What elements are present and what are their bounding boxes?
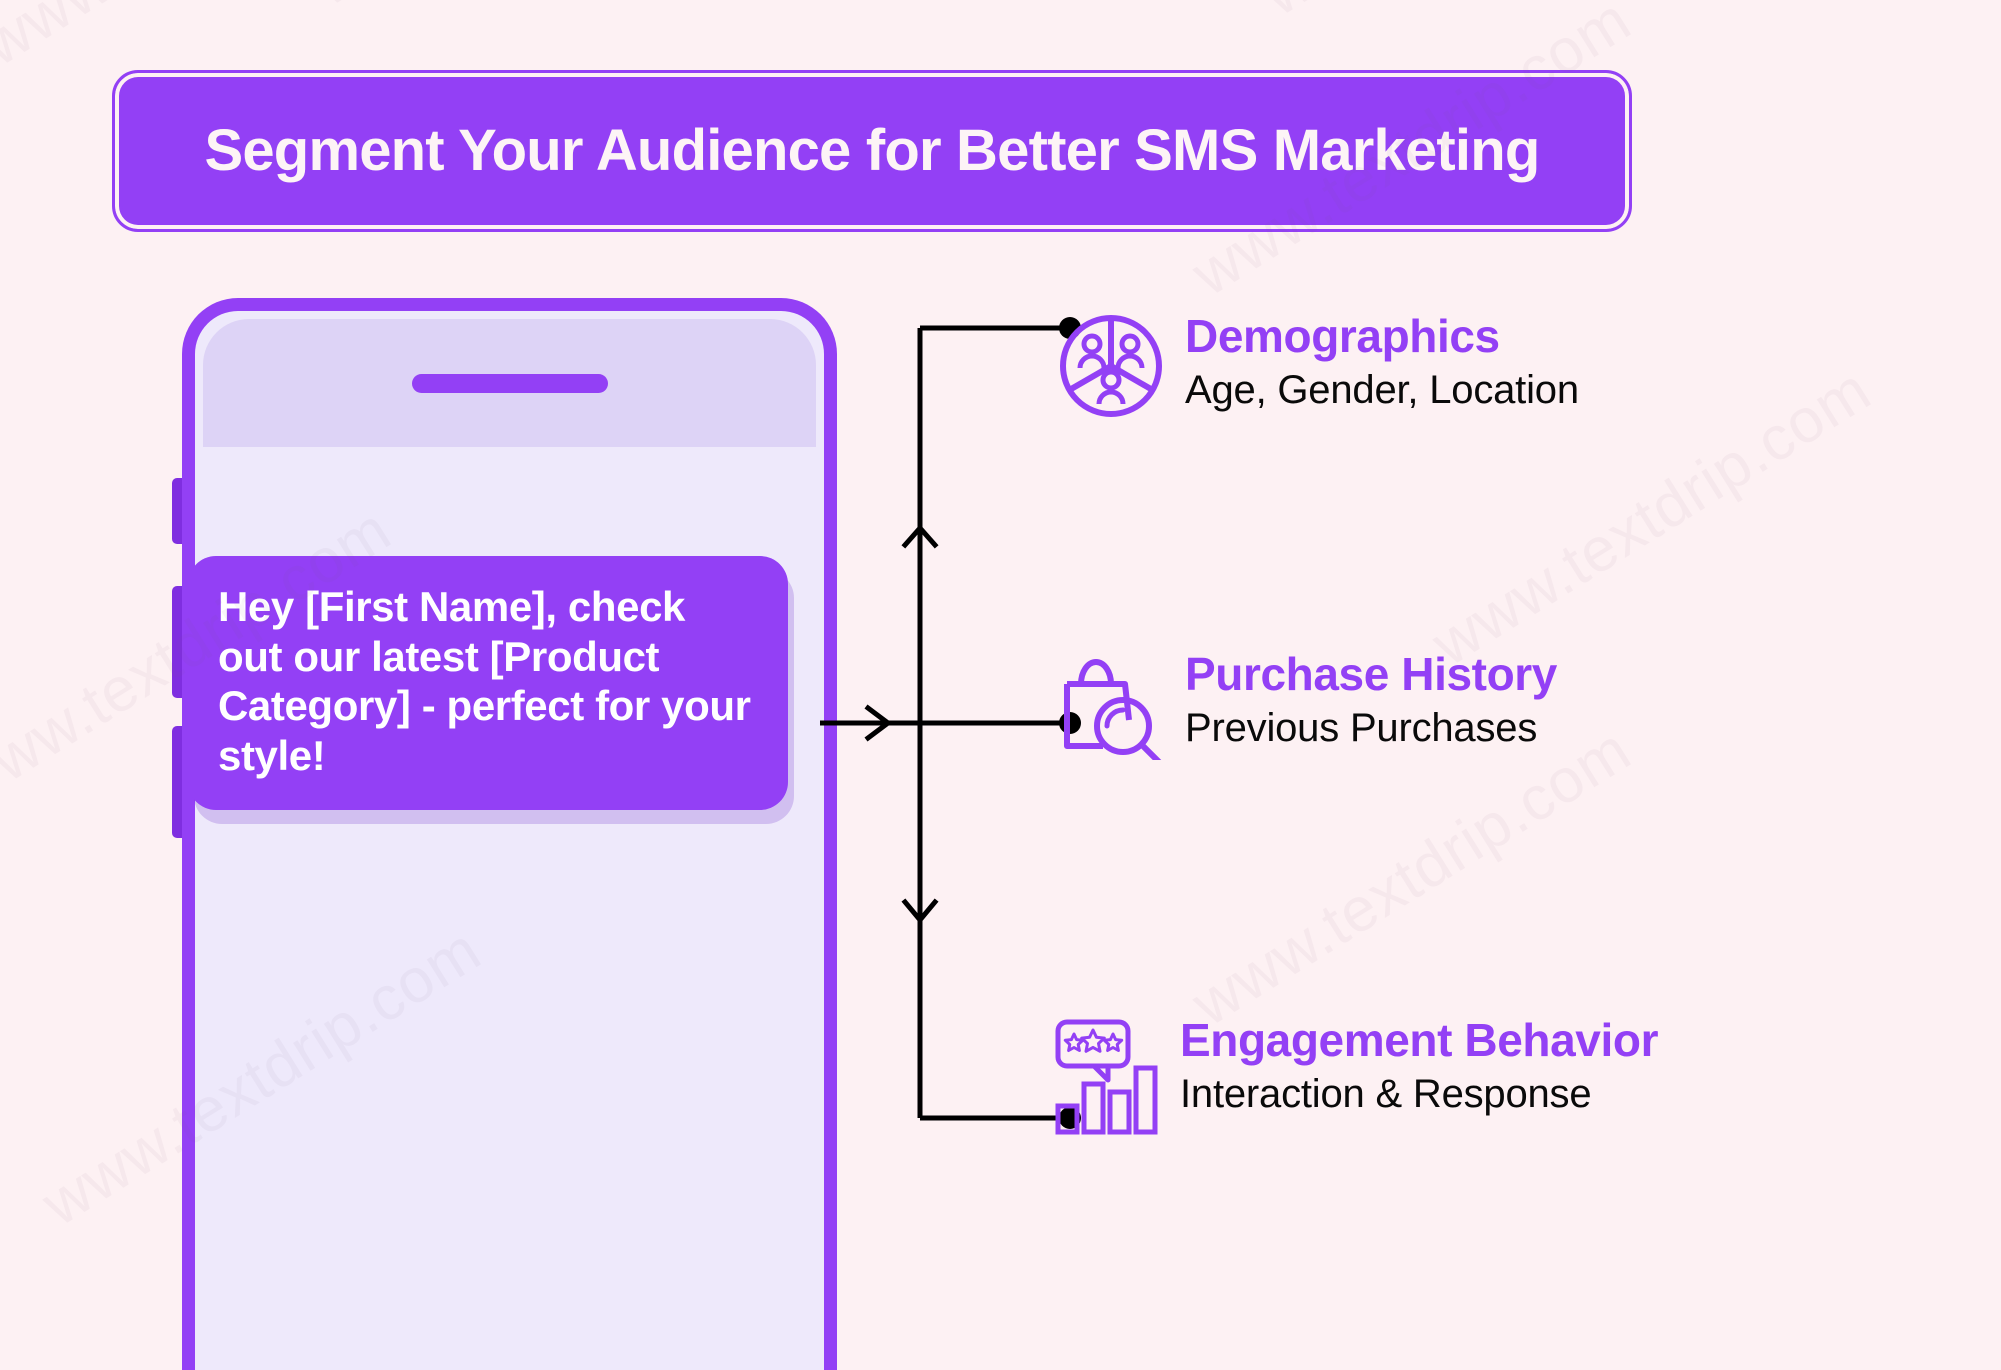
category-title: Engagement Behavior xyxy=(1180,1016,1658,1065)
category-subtitle: Previous Purchases xyxy=(1185,706,1557,751)
category-text-block: Purchase History Previous Purchases xyxy=(1185,648,1557,751)
page-title: Segment Your Audience for Better SMS Mar… xyxy=(204,122,1539,180)
header-banner: Segment Your Audience for Better SMS Mar… xyxy=(112,70,1632,232)
purchase-history-icon xyxy=(1055,648,1167,760)
category-text-block: Engagement Behavior Interaction & Respon… xyxy=(1180,1014,1658,1117)
category-title: Demographics xyxy=(1185,312,1579,361)
category-text-block: Demographics Age, Gender, Location xyxy=(1185,310,1579,413)
watermark: www.textdrip.com xyxy=(1250,0,1713,30)
engagement-behavior-icon xyxy=(1050,1018,1162,1130)
category-demographics[interactable]: Demographics Age, Gender, Location xyxy=(1055,310,1579,422)
sms-message-text: Hey [First Name], check out our latest [… xyxy=(218,582,758,780)
speaker-pill-icon xyxy=(412,374,608,393)
demographics-icon xyxy=(1055,310,1167,422)
watermark: www.textdrip.com xyxy=(0,0,433,80)
category-engagement-behavior[interactable]: Engagement Behavior Interaction & Respon… xyxy=(1050,1014,1658,1130)
category-title: Purchase History xyxy=(1185,650,1557,699)
phone-status-bar xyxy=(203,319,816,447)
phone-frame xyxy=(182,298,837,1370)
category-purchase-history[interactable]: Purchase History Previous Purchases xyxy=(1055,648,1557,760)
watermark: www.textdrip.com xyxy=(300,0,763,20)
phone-mockup xyxy=(150,298,840,1370)
category-subtitle: Interaction & Response xyxy=(1180,1072,1658,1117)
phone-screen xyxy=(203,319,816,1370)
category-subtitle: Age, Gender, Location xyxy=(1185,368,1579,413)
watermark: www.textdrip.com xyxy=(1180,714,1643,1040)
sms-message-bubble[interactable]: Hey [First Name], check out our latest [… xyxy=(188,556,788,810)
connector-branch-middle xyxy=(820,708,1081,738)
